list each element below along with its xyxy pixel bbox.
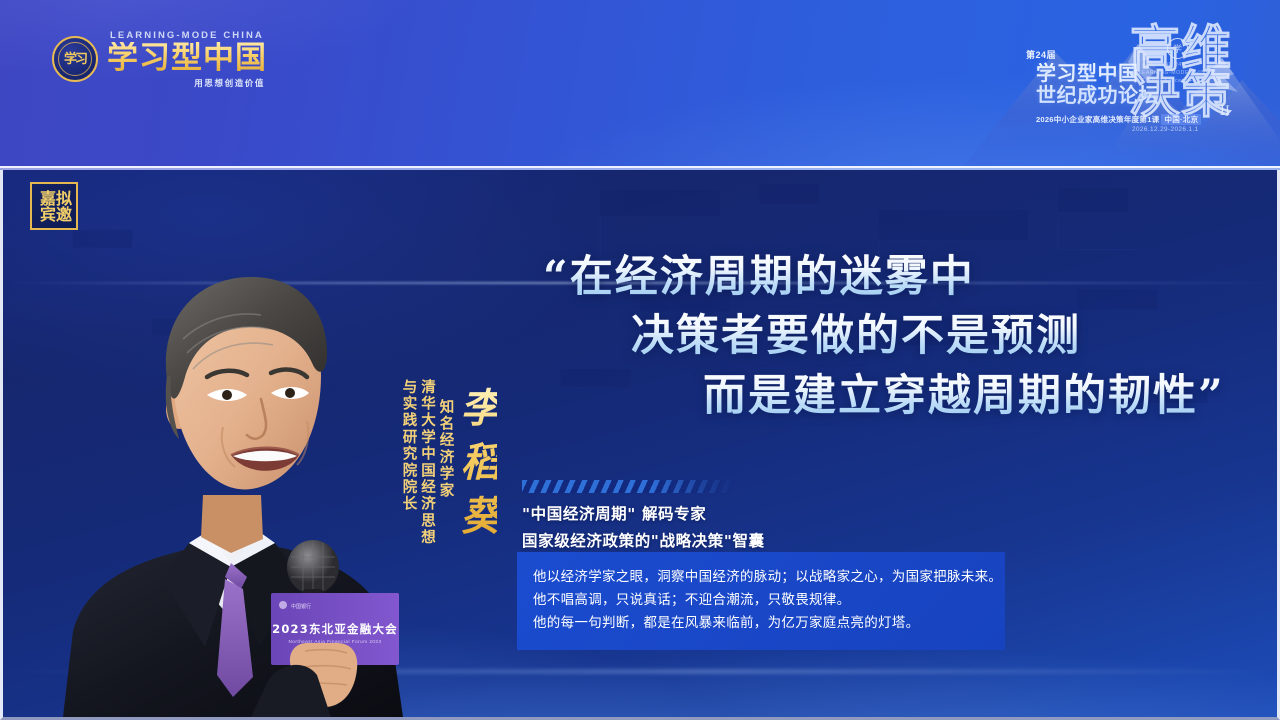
speaker-name: 李稻葵	[457, 387, 497, 549]
svg-text:2023东北亚金融大会: 2023东北亚金融大会	[272, 622, 398, 636]
quote-line-2: 决策者要做的不是预测	[543, 307, 1223, 366]
brand-logo: 学习 LEARNING-MODE CHINA 学习型中国 用思想创造价值	[52, 30, 267, 89]
forum-location-tag: 中国·北京	[1161, 114, 1201, 125]
forum-subtitle: 2026中小企业家高维决策年度第1课中国·北京	[1036, 114, 1201, 125]
credential-line-1: "中国经济周期" 解码专家	[522, 502, 765, 524]
header-band: 学习 LEARNING-MODE CHINA 学习型中国 用思想创造价值 高维 …	[0, 0, 1280, 170]
brand-seal-glyph: 学习	[64, 53, 86, 66]
credential-line-2: 国家级经济政策的"战略决策"智囊	[522, 529, 765, 551]
brand-slogan: 用思想创造价值	[194, 77, 265, 89]
svg-text:中国银行: 中国银行	[291, 603, 311, 610]
forum-date: 2026.12.29-2026.1.1	[1132, 126, 1199, 133]
brand-seal-icon: 学习	[52, 36, 98, 82]
speaker-title-2: 清华大学中国经济思想	[420, 379, 435, 546]
credentials-block: "中国经济周期" 解码专家 国家级经济政策的"战略决策"智囊	[522, 502, 765, 551]
guest-seal-badge: 拟邀嘉宾	[30, 182, 78, 230]
forum-subtitle-text: 2026中小企业家高维决策年度第1课	[1036, 115, 1159, 124]
guest-seal-label: 拟邀嘉宾	[38, 187, 70, 225]
quote-line-1: “在经济周期的迷雾中	[543, 248, 1223, 307]
poster-stage: 学习 LEARNING-MODE CHINA 学习型中国 用思想创造价值 高维 …	[0, 0, 1280, 720]
forum-seal-glyph: 学	[1173, 42, 1182, 55]
speaker-name-block: 李稻葵 知名经济学家 清华大学中国经济思想 与实践研究院院长	[401, 375, 503, 625]
description-line-3: 他的每一句判断，都是在风暴来临前，为亿万家庭点亮的灯塔。	[533, 612, 989, 635]
description-line-1: 他以经济学家之眼，洞察中国经济的脉动；以战略家之心，为国家把脉未来。	[533, 566, 989, 589]
brand-text: LEARNING-MODE CHINA 学习型中国 用思想创造价值	[107, 30, 267, 89]
forum-lockup: 高维 决策 学 THE 24th LEARNING-MODE CHINA Cen…	[1020, 26, 1232, 146]
speaker-title-3: 与实践研究院院长	[401, 379, 416, 513]
quote-line-3: 而是建立穿越周期的韧性”	[543, 367, 1223, 426]
brand-chinese-name: 学习型中国	[107, 42, 267, 75]
quote-block: “在经济周期的迷雾中 决策者要做的不是预测 而是建立穿越周期的韧性”	[543, 248, 1223, 426]
diagonal-stripe-decoration	[522, 480, 734, 493]
main-panel: 拟邀嘉宾	[0, 170, 1280, 720]
forum-issue-number: 第24届	[1026, 48, 1056, 61]
forum-name: 学习型中国 世纪成功论坛	[1036, 62, 1159, 107]
forum-seal-icon: 学	[1167, 38, 1188, 59]
description-line-2: 他不唱高调，只说真话；不迎合潮流，只敬畏规律。	[533, 589, 989, 612]
speaker-portrait: 中国银行 2023东北亚金融大会 Northeast Asia Financia…	[55, 227, 435, 717]
description-panel: 他以经济学家之眼，洞察中国经济的脉动；以战略家之心，为国家把脉未来。 他不唱高调…	[517, 552, 1005, 650]
forum-roman-numeral: II	[1220, 104, 1230, 119]
speaker-title-1: 知名经济学家	[438, 399, 453, 499]
